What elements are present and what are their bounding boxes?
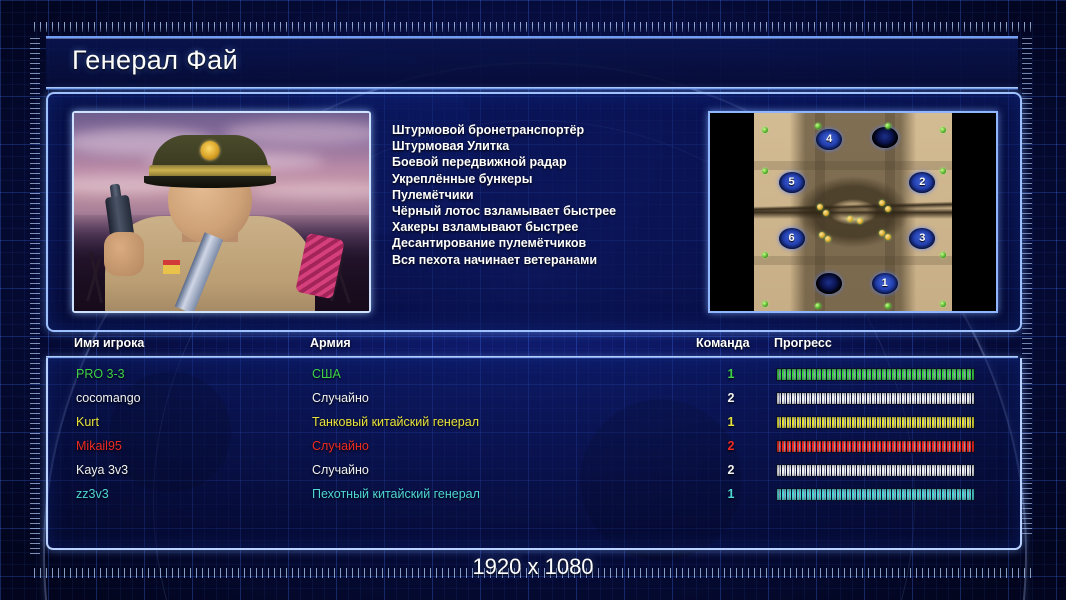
player-name: PRO 3-3 [76,362,125,386]
player-team: 2 [712,434,750,458]
ruler-top-decoration [34,22,1034,32]
map-start-position[interactable] [872,127,898,148]
player-team: 1 [712,410,750,434]
map-start-position-3[interactable]: 3 [909,228,935,249]
player-name: Mikail95 [76,434,122,458]
player-army: Танковый китайский генерал [312,410,479,434]
map-start-position-2[interactable]: 2 [909,172,935,193]
column-header-progress: Прогресс [774,336,832,350]
player-progress-bar [776,464,975,477]
general-medal-icon [163,260,180,274]
ability-item: Укреплённые бункеры [392,171,692,187]
ability-item: Пулемётчики [392,187,692,203]
ability-item: Хакеры взламывают быстрее [392,219,692,235]
player-name: Kaya 3v3 [76,458,128,482]
ability-item: Штурмовой бронетранспортёр [392,122,692,138]
resolution-label: 1920 x 1080 [0,554,1066,580]
table-row[interactable]: Mikail95Случайно2 [48,434,1020,458]
player-team: 2 [712,458,750,482]
player-team: 1 [712,482,750,506]
game-lobby-screen: Генерал Фай [0,0,1066,600]
player-team: 1 [712,362,750,386]
general-portrait-image [74,113,369,311]
player-army: Случайно [312,434,369,458]
player-progress-bar [776,392,975,405]
player-row-list: PRO 3-3США1cocomangoСлучайно2KurtТанковы… [48,358,1020,506]
ability-item: Вся пехота начинает ветеранами [392,252,692,268]
ability-item: Штурмовая Улитка [392,138,692,154]
general-cap-brim [144,176,276,188]
general-abilities-list: Штурмовой бронетранспортёр Штурмовая Ули… [392,122,692,268]
column-header-army: Армия [310,336,351,350]
player-progress-bar [776,488,975,501]
map-start-position-4[interactable]: 4 [816,129,842,150]
ruler-left-decoration [30,38,40,558]
title-bar: Генерал Фай [46,36,1018,88]
map-start-position-1[interactable]: 1 [872,273,898,294]
ability-item: Боевой передвижной радар [392,154,692,170]
page-title: Генерал Фай [72,45,238,76]
player-progress-bar [776,440,975,453]
ability-item: Чёрный лотос взламывает быстрее [392,203,692,219]
column-header-team: Команда [696,336,750,350]
map-terrain-image: 452631 [754,113,952,311]
player-table-header: Имя игрока Армия Команда Прогресс [46,334,1018,356]
player-progress-bar [776,416,975,429]
column-header-player: Имя игрока [74,336,144,350]
ruler-right-decoration [1022,38,1032,538]
ability-item: Десантирование пулемётчиков [392,235,692,251]
general-portrait-frame [72,111,371,313]
table-row[interactable]: KurtТанковый китайский генерал1 [48,410,1020,434]
player-army: США [312,362,341,386]
player-name: zz3v3 [76,482,109,506]
map-start-position[interactable] [816,273,842,294]
player-name: Kurt [76,410,99,434]
player-army: Случайно [312,386,369,410]
map-start-position-5[interactable]: 5 [779,172,805,193]
table-row[interactable]: Kaya 3v3Случайно2 [48,458,1020,482]
map-start-position-6[interactable]: 6 [779,228,805,249]
cap-emblem-icon [200,141,219,160]
table-row[interactable]: cocomangoСлучайно2 [48,386,1020,410]
general-hand [104,232,144,276]
player-progress-bar [776,368,975,381]
general-info-panel: Штурмовой бронетранспортёр Штурмовая Ули… [46,92,1022,332]
table-row[interactable]: PRO 3-3США1 [48,362,1020,386]
player-army: Пехотный китайский генерал [312,482,480,506]
table-row[interactable]: zz3v3Пехотный китайский генерал1 [48,482,1020,506]
player-table: PRO 3-3США1cocomangoСлучайно2KurtТанковы… [46,358,1022,550]
map-preview[interactable]: 452631 [708,111,998,313]
title-underline [46,87,1018,90]
player-army: Случайно [312,458,369,482]
player-team: 2 [712,386,750,410]
player-name: cocomango [76,386,141,410]
